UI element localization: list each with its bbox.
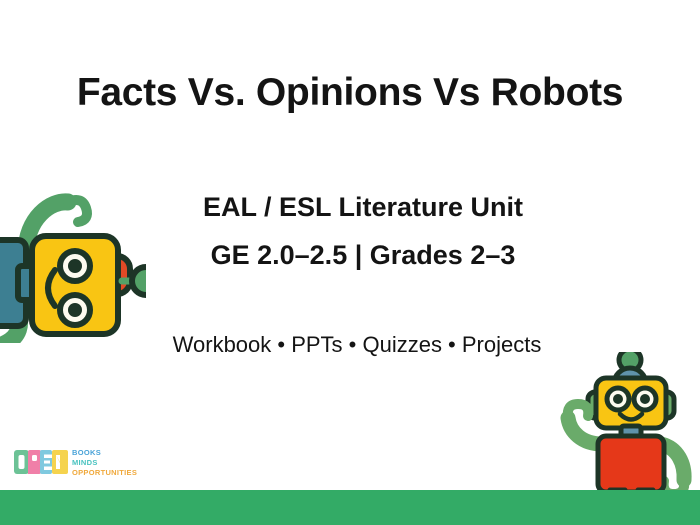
logo-tagline: BOOKS MINDS OPPORTUNITIES [72, 448, 137, 479]
logo-tagline-minds: MINDS [72, 458, 137, 468]
slide-canvas: Facts Vs. Opinions Vs Robots EAL / ESL L… [0, 0, 700, 525]
slide-subtitle-line-2: GE 2.0–2.5 | Grades 2–3 [0, 240, 700, 271]
logo-open-wordmark-icon [14, 447, 70, 477]
slide-subtitle-line-1: EAL / ESL Literature Unit [0, 192, 700, 223]
brand-logo[interactable]: BOOKS MINDS OPPORTUNITIES [14, 447, 179, 481]
logo-tagline-books: BOOKS [72, 448, 137, 458]
footer-green-band [0, 490, 700, 525]
slide-title: Facts Vs. Opinions Vs Robots [0, 72, 700, 115]
logo-tagline-opportunities: OPPORTUNITIES [72, 468, 137, 478]
